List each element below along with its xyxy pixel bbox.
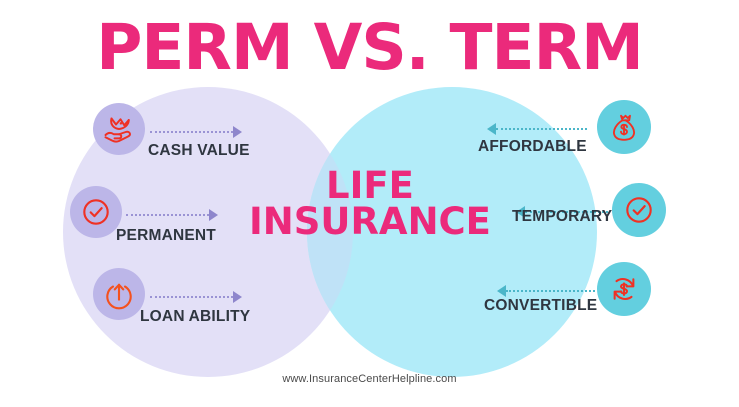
right-item-label-3: CONVERTIBLE bbox=[484, 297, 597, 315]
right-connector-1 bbox=[487, 122, 587, 136]
dotted-line bbox=[150, 131, 233, 133]
dotted-line bbox=[150, 296, 233, 298]
left-connector-3 bbox=[150, 290, 242, 304]
left-item-label-2: PERMANENT bbox=[116, 227, 216, 245]
dotted-line bbox=[126, 214, 209, 216]
infographic-canvas: PERM VS. TERM LIFE INSURANCE CASH VALUE bbox=[0, 0, 739, 407]
left-connector-2 bbox=[126, 208, 218, 222]
left-item-label-1: CASH VALUE bbox=[148, 142, 250, 160]
up-arrow-circle-icon bbox=[93, 268, 145, 320]
center-label-line1: LIFE bbox=[244, 168, 496, 204]
center-label-line2: INSURANCE bbox=[244, 204, 496, 240]
check-circle-icon bbox=[70, 186, 122, 238]
left-connector-1 bbox=[150, 125, 242, 139]
center-label: LIFE INSURANCE bbox=[244, 168, 496, 241]
arrow-left-icon bbox=[497, 285, 506, 297]
hand-holding-money-icon bbox=[93, 103, 145, 155]
arrow-right-icon bbox=[233, 291, 242, 303]
footer-url[interactable]: www.InsuranceCenterHelpline.com bbox=[0, 373, 739, 385]
check-circle-icon bbox=[612, 183, 666, 237]
dotted-line bbox=[496, 128, 587, 130]
dollar-refresh-icon bbox=[597, 262, 651, 316]
money-bag-icon bbox=[597, 100, 651, 154]
arrow-right-icon bbox=[233, 126, 242, 138]
right-item-label-1: AFFORDABLE bbox=[478, 138, 587, 156]
arrow-left-icon bbox=[487, 123, 496, 135]
right-connector-3 bbox=[497, 284, 595, 298]
right-item-label-2: TEMPORARY bbox=[512, 208, 612, 226]
left-item-label-3: LOAN ABILITY bbox=[140, 308, 250, 326]
page-title: PERM VS. TERM bbox=[0, 16, 739, 79]
dotted-line bbox=[506, 290, 595, 292]
arrow-right-icon bbox=[209, 209, 218, 221]
